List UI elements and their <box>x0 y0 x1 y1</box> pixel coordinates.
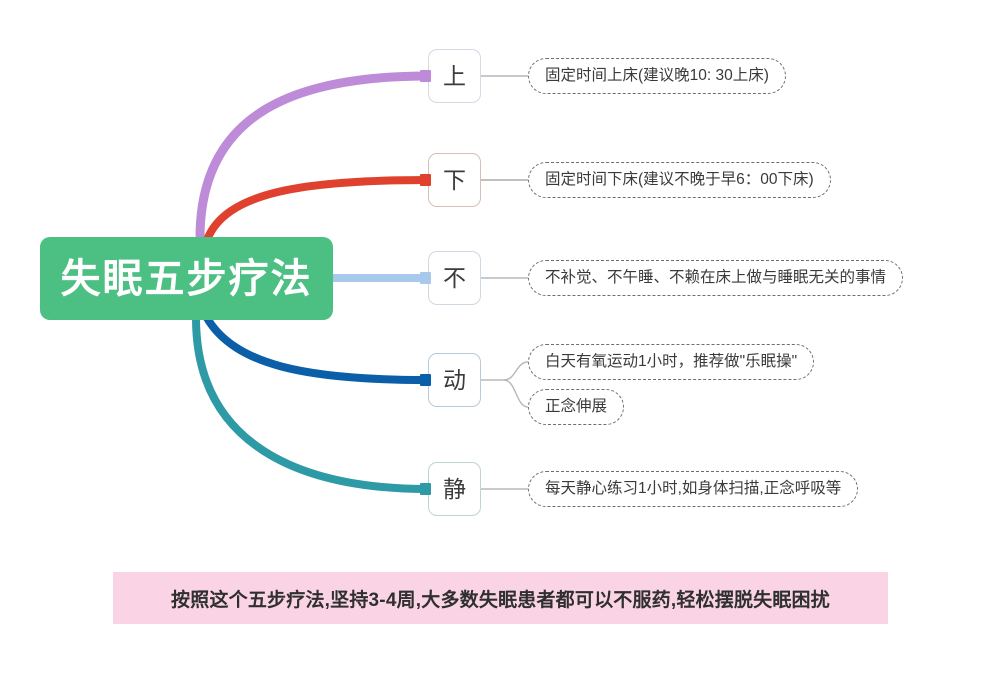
leaf-dong-1-label: 白天有氧运动1小时，推荐做"乐眠操" <box>545 354 797 370</box>
leaf-dong-2-label: 正念伸展 <box>545 399 607 415</box>
connector-dong <box>207 318 428 380</box>
leaf-xia-1-label: 固定时间下床(建议不晚于早6：00下床) <box>545 172 814 188</box>
branch-node-jing[interactable]: 静 <box>428 462 481 516</box>
summary-banner: 按照这个五步疗法,坚持3-4周,大多数失眠患者都可以不服药,轻松摆脱失眠困扰 <box>113 572 888 624</box>
branch-node-bu-label: 不 <box>443 267 466 290</box>
leaf-jing-1[interactable]: 每天静心练习1小时,如身体扫描,正念呼吸等 <box>528 471 858 507</box>
summary-banner-label: 按照这个五步疗法,坚持3-4周,大多数失眠患者都可以不服药,轻松摆脱失眠困扰 <box>171 585 830 612</box>
branch-node-shang-label: 上 <box>443 65 466 88</box>
branch-color-tab-jing <box>420 483 431 495</box>
branch-node-jing-label: 静 <box>443 478 466 501</box>
branch-node-dong-label: 动 <box>443 369 466 392</box>
branch-node-bu[interactable]: 不 <box>428 251 481 305</box>
leaf-bu-1-label: 不补觉、不午睡、不赖在床上做与睡眠无关的事情 <box>545 270 886 286</box>
branch-color-tab-shang <box>420 70 431 82</box>
mindmap-canvas: 失眠五步疗法 上 固定时间上床(建议晚10: 30上床) 下 固定时间下床(建议… <box>0 0 984 695</box>
leaf-bu-1[interactable]: 不补觉、不午睡、不赖在床上做与睡眠无关的事情 <box>528 260 903 296</box>
branch-node-shang[interactable]: 上 <box>428 49 481 103</box>
branch-node-dong[interactable]: 动 <box>428 353 481 407</box>
leaf-dong-1[interactable]: 白天有氧运动1小时，推荐做"乐眠操" <box>528 344 814 380</box>
leaf-connector-dong-1 <box>481 362 528 380</box>
branch-color-tab-dong <box>420 374 431 386</box>
leaf-xia-1[interactable]: 固定时间下床(建议不晚于早6：00下床) <box>528 162 831 198</box>
leaf-shang-1[interactable]: 固定时间上床(建议晚10: 30上床) <box>528 58 786 94</box>
branch-node-xia-label: 下 <box>443 169 466 192</box>
branch-node-xia[interactable]: 下 <box>428 153 481 207</box>
root-node-label: 失眠五步疗法 <box>61 259 313 299</box>
leaf-connector-dong-2 <box>504 380 528 407</box>
root-node[interactable]: 失眠五步疗法 <box>40 237 333 320</box>
branch-color-tab-bu <box>420 272 431 284</box>
branch-color-tab-xia <box>420 174 431 186</box>
leaf-jing-1-label: 每天静心练习1小时,如身体扫描,正念呼吸等 <box>545 481 841 497</box>
leaf-dong-2[interactable]: 正念伸展 <box>528 389 624 425</box>
connector-xia <box>207 180 428 240</box>
leaf-shang-1-label: 固定时间上床(建议晚10: 30上床) <box>545 68 769 84</box>
